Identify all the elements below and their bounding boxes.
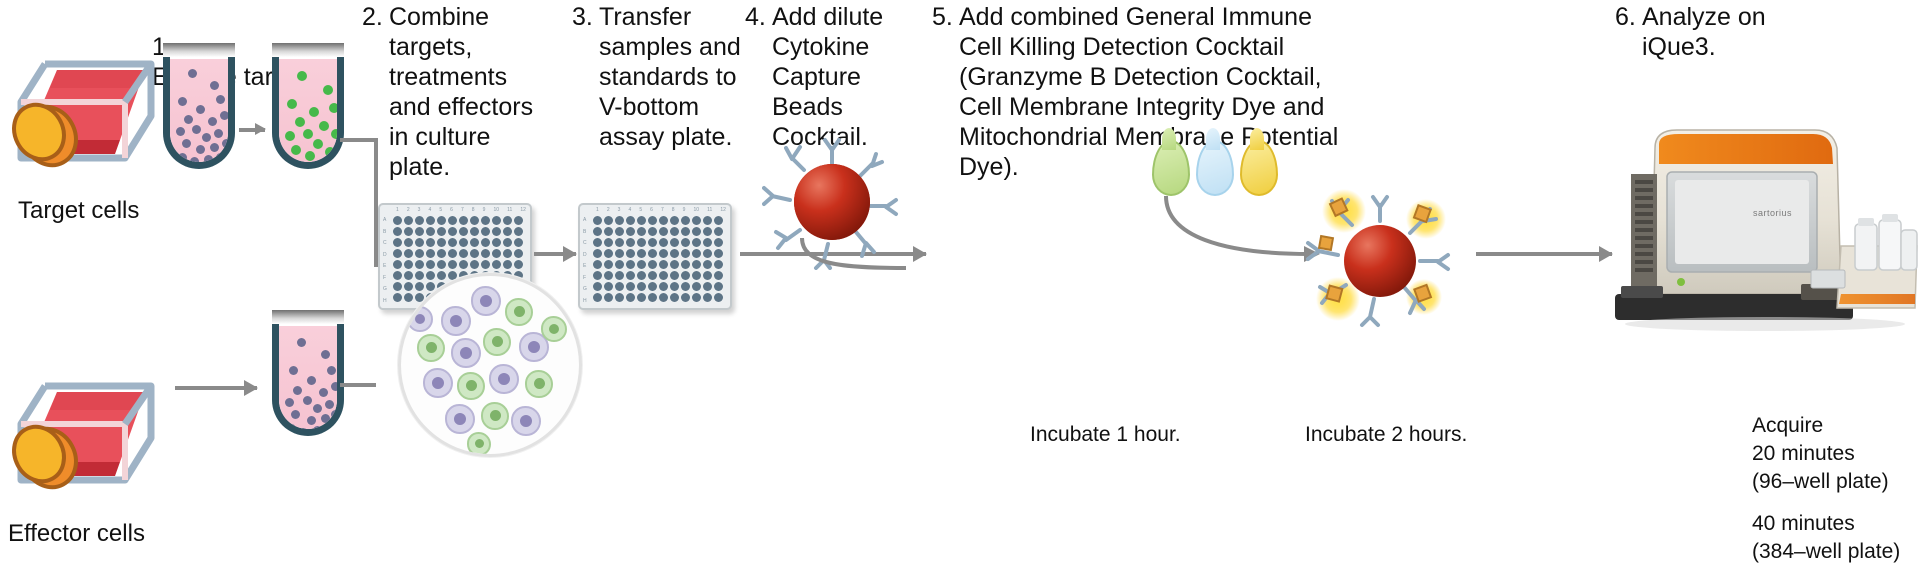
magnified-well-view <box>398 273 582 457</box>
step-6-number: 6. <box>1615 2 1636 32</box>
step-2-text: 2. Combine targets, treatments and effec… <box>362 2 547 92</box>
plate-row-labels: ABCDEFGH <box>583 217 587 304</box>
acquire-384-duration: 40 minutes <box>1752 510 1920 538</box>
ique3-instrument-image: sartorius <box>1615 108 1920 333</box>
acquire-96-plate: (96–well plate) <box>1752 468 1920 496</box>
step-3-number: 3. <box>572 2 593 32</box>
bead-drop-connector <box>796 238 916 278</box>
svg-text:sartorius: sartorius <box>1753 208 1792 218</box>
step-3-label: Transfer samples and standards to V-bott… <box>599 2 759 152</box>
v-bottom-assay-plate: 123456 789101112 ABCDEFGH <box>578 203 732 310</box>
labeled-bead-group <box>1300 175 1460 335</box>
step-4-number: 4. <box>745 2 766 32</box>
culture-flask-icon <box>5 380 160 500</box>
plate-column-labels: 123456 789101112 <box>596 207 726 213</box>
incubate-1-hour-caption: Incubate 1 hour. <box>1030 421 1181 449</box>
tube-media <box>279 326 337 429</box>
tube-media <box>170 59 228 162</box>
step-6-label: Analyze on iQue3. <box>1642 2 1802 62</box>
tube-rim <box>272 43 344 57</box>
droplet-yellow-tip <box>1250 128 1264 150</box>
arrow-transfer <box>534 252 576 256</box>
acquire-96-duration: 20 minutes <box>1752 440 1920 468</box>
step-4-text: 4. Add dilute Cytokine Capture Beads Coc… <box>745 2 935 92</box>
step-3-text: 3. Transfer samples and standards to V-b… <box>572 2 762 92</box>
effector-cells-label: Effector cells <box>8 520 145 548</box>
tube-rim <box>163 43 235 57</box>
culture-flask-icon <box>5 58 160 178</box>
incubate-2-hours-caption: Incubate 2 hours. <box>1305 421 1467 449</box>
plate-wells <box>593 216 725 304</box>
tube-rim <box>272 310 344 324</box>
tube-encoded-targets <box>272 43 344 169</box>
arrow-effector-to-tube <box>175 386 257 390</box>
ique3-instrument: sartorius <box>1615 108 1920 333</box>
target-cells-label: Target cells <box>18 197 139 225</box>
step-2-label: Combine targets, treatments and effector… <box>389 2 549 182</box>
tube-media <box>279 59 337 162</box>
step-5-number: 5. <box>932 2 953 32</box>
droplet-connector <box>1162 196 1312 266</box>
arrow-to-instrument <box>1476 252 1612 256</box>
step-5-text: 5. Add combined General Immune Cell Kill… <box>932 2 1352 92</box>
effector-cells-flask <box>5 380 160 505</box>
labeled-capture-bead-icon <box>1300 175 1460 335</box>
acquire-info-block: Acquire 20 minutes (96–well plate) 40 mi… <box>1752 412 1920 566</box>
tube-unstained-targets <box>163 43 235 169</box>
step-6-text: 6. Analyze on iQue3. <box>1615 2 1805 92</box>
plate-column-labels: 123456 789101112 <box>396 207 526 213</box>
droplet-blue-tip <box>1206 128 1220 150</box>
target-cells-flask <box>5 58 160 183</box>
plate-row-labels: ABCDEFGH <box>383 217 387 304</box>
arrow-encode <box>239 128 265 132</box>
acquire-label: Acquire <box>1752 412 1920 440</box>
droplet-green-tip <box>1162 128 1176 150</box>
acquire-384-plate: (384–well plate) <box>1752 538 1920 566</box>
step-2-number: 2. <box>362 2 383 32</box>
tube-effectors <box>272 310 344 436</box>
